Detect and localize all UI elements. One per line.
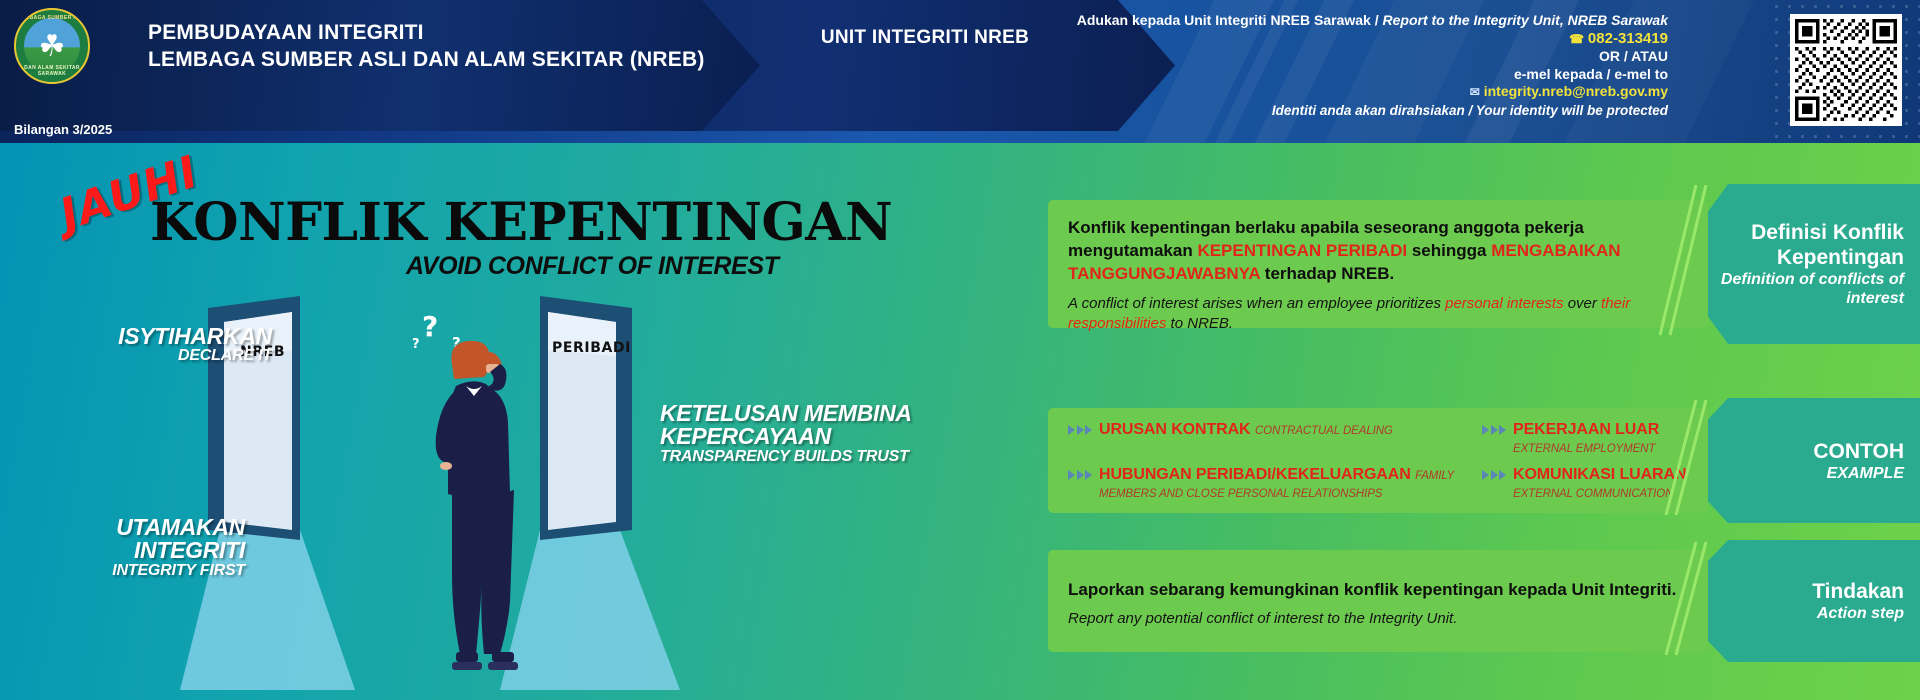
example-en: EXTERNAL EMPLOYMENT [1513,443,1655,455]
tab-example-ms: CONTOH [1813,439,1904,464]
definition-en-part3: to NREB. [1166,315,1233,332]
hand-leaf-icon: ☘ [39,32,66,62]
panel-example: URUSAN KONTRAK CONTRACTUAL DEALING PEKER… [1048,408,1708,513]
caption-transparency: KETELUSAN MEMBINA KEPERCAYAAN TRANSPAREN… [660,402,920,465]
definition-en-part1: A conflict of interest arises when an em… [1068,295,1445,312]
example-text: KOMUNIKASI LUARAN EXTERNAL COMMUNICATION [1513,465,1694,502]
example-item: PEKERJAAN LUAR EXTERNAL EMPLOYMENT [1482,420,1694,457]
email-line: ✉ integrity.nreb@nreb.gov.my [948,83,1668,102]
person-figure [436,341,518,670]
phone-icon: ☎ [1569,32,1584,46]
tab-example-en: EXAMPLE [1827,464,1904,483]
org-line-2: LEMBAGA SUMBER ASLI DAN ALAM SEKITAR (NR… [148,46,705,73]
contact-block: Adukan kepada Unit Integriti NREB Sarawa… [948,12,1668,119]
caption-declare-en: DECLARE IT [72,348,272,364]
report-separator: / [1375,12,1379,28]
beam-right [500,530,680,690]
phone-number[interactable]: 082-313419 [1588,30,1668,47]
example-en: CONTRACTUAL DEALING [1255,425,1393,437]
logo-bottom-text: DAN ALAM SEKITAR SARAWAK [16,65,88,77]
definition-ms: Konflik kepentingan berlaku apabila sese… [1068,216,1688,285]
example-ms: KOMUNIKASI LUARAN [1513,466,1686,483]
logo-top-text: LEMBAGA SUMBER ASLI [16,15,88,21]
definition-en-highlight-1: personal interests [1445,295,1563,312]
example-en: EXTERNAL COMMUNICATION [1513,488,1673,500]
example-ms: URUSAN KONTRAK [1099,421,1250,438]
caption-declare-ms: ISYTIHARKAN [72,325,272,348]
identity-protected-note: Identiti anda akan dirahsiakan / Your id… [948,102,1668,120]
example-text: URUSAN KONTRAK CONTRACTUAL DEALING [1099,420,1393,439]
definition-ms-part2: sehingga [1407,241,1491,260]
example-text: HUBUNGAN PERIBADI/KEKELUARGAAN FAMILY ME… [1099,465,1468,502]
caption-declare: ISYTIHARKAN DECLARE IT [72,325,272,365]
phone-line: ☎ 082-313419 [948,30,1668,49]
report-ms: Adukan kepada Unit Integriti NREB Sarawa… [1077,12,1371,28]
question-mark-small-left: ? [412,337,420,352]
triple-arrow-icon [1482,420,1506,435]
email-label: e-mel kepada / e-mel to [948,66,1668,84]
tab-action-en: Action step [1817,604,1904,623]
triple-arrow-icon [1482,465,1506,480]
report-en: Report to the Integrity Unit, NREB Saraw… [1383,12,1668,28]
report-line: Adukan kepada Unit Integriti NREB Sarawa… [948,12,1668,30]
definition-body: Konflik kepentingan berlaku apabila sese… [1068,216,1688,334]
definition-ms-part3: terhadap NREB. [1260,264,1394,283]
panel-definition: Konflik kepentingan berlaku apabila sese… [1048,200,1708,328]
tab-action-ms: Tindakan [1812,579,1904,604]
action-body: Laporkan sebarang kemungkinan konflik ke… [1068,578,1688,629]
example-item: HUBUNGAN PERIBADI/KEKELUARGAAN FAMILY ME… [1068,465,1468,502]
triple-arrow-icon [1068,420,1092,435]
qr-code[interactable] [1790,14,1902,126]
action-ms: Laporkan sebarang kemungkinan konflik ke… [1068,578,1688,601]
definition-en-part2: over [1564,295,1602,312]
hero-subtitle: AVOID CONFLICT OF INTEREST [406,252,778,281]
door-label-peribadi: PERIBADI [552,340,631,356]
definition-en: A conflict of interest arises when an em… [1068,294,1688,334]
organisation-title: PEMBUDAYAAN INTEGRITI LEMBAGA SUMBER ASL… [148,20,705,73]
definition-ms-highlight-1: KEPENTINGAN PERIBADI [1197,241,1407,260]
example-ms: PEKERJAAN LUAR [1513,421,1659,438]
action-en: Report any potential conflict of interes… [1068,609,1688,629]
example-item: KOMUNIKASI LUARAN EXTERNAL COMMUNICATION [1482,465,1694,502]
infographic-poster: LEMBAGA SUMBER ASLI DAN ALAM SEKITAR SAR… [0,0,1920,700]
caption-integrity-en: INTEGRITY FIRST [10,563,245,579]
door-peribadi [540,296,632,540]
caption-trust-en: TRANSPARENCY BUILDS TRUST [660,449,920,465]
question-mark-large: ? [422,310,438,343]
envelope-icon: ✉ [1470,85,1480,99]
org-line-1: PEMBUDAYAAN INTEGRITI [148,20,705,46]
example-ms: HUBUNGAN PERIBADI/KEKELUARGAAN [1099,466,1411,483]
example-grid: URUSAN KONTRAK CONTRACTUAL DEALING PEKER… [1068,420,1694,502]
caption-integrity-first: UTAMAKAN INTEGRITI INTEGRITY FIRST [10,516,245,579]
panel-action: Laporkan sebarang kemungkinan konflik ke… [1048,550,1708,652]
nreb-logo: LEMBAGA SUMBER ASLI DAN ALAM SEKITAR SAR… [14,8,90,84]
example-text: PEKERJAAN LUAR EXTERNAL EMPLOYMENT [1513,420,1694,457]
or-line: OR / ATAU [948,48,1668,66]
caption-trust-ms: KETELUSAN MEMBINA KEPERCAYAAN [660,402,920,449]
page-header: LEMBAGA SUMBER ASLI DAN ALAM SEKITAR SAR… [0,0,1920,143]
caption-integrity-ms: UTAMAKAN INTEGRITI [10,516,245,563]
email-address[interactable]: integrity.nreb@nreb.gov.my [1484,83,1668,99]
triple-arrow-icon [1068,465,1092,480]
hero-title: KONFLIK KEPENTINGAN [150,192,892,253]
issue-number: Bilangan 3/2025 [14,122,112,137]
qr-code-image [1795,19,1897,121]
example-item: URUSAN KONTRAK CONTRACTUAL DEALING [1068,420,1468,457]
